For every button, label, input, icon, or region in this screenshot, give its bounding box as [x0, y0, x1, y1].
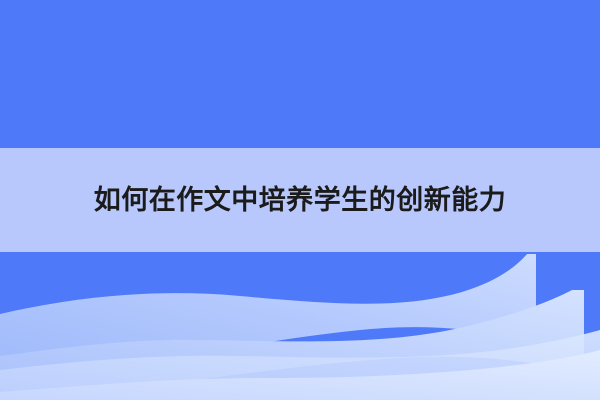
wave-graphic — [0, 252, 600, 400]
title-band: 如何在作文中培养学生的创新能力 — [0, 148, 600, 252]
page-title: 如何在作文中培养学生的创新能力 — [94, 187, 507, 214]
banner-image: 如何在作文中培养学生的创新能力 — [0, 0, 600, 400]
wave-band — [0, 252, 600, 400]
top-blue-band — [0, 0, 600, 148]
